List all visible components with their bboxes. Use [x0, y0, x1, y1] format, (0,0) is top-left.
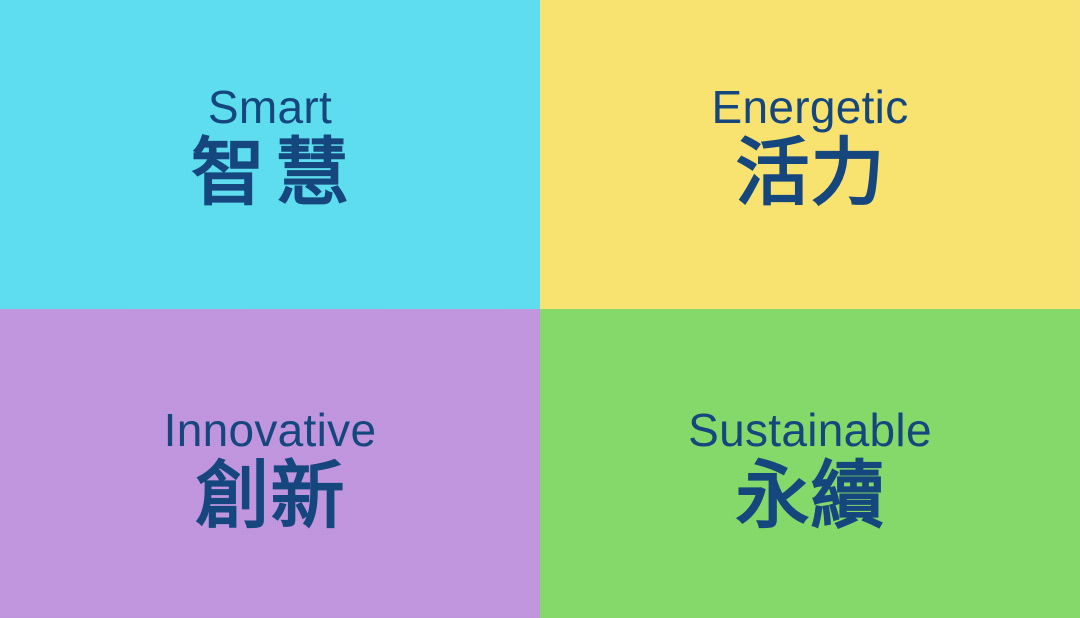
quadrant-smart-text: Smart 智慧 — [0, 84, 540, 217]
quadrant-sustainable[interactable]: Sustainable 永續 — [540, 309, 1080, 618]
quadrant-smart[interactable]: Smart 智慧 — [0, 0, 540, 309]
quadrant-energetic-label-zh: 活力 — [540, 131, 1080, 217]
quadrant-sustainable-label-zh: 永續 — [540, 454, 1080, 540]
quadrant-innovative-label-zh: 創新 — [0, 454, 540, 540]
quadrant-innovative[interactable]: Innovative 創新 — [0, 309, 540, 618]
quadrant-energetic-text: Energetic 活力 — [540, 84, 1080, 217]
brand-values-grid: Smart 智慧 Energetic 活力 Innovative 創新 Sust… — [0, 0, 1080, 618]
quadrant-smart-label-zh: 智慧 — [0, 131, 540, 217]
quadrant-sustainable-label-en: Sustainable — [540, 407, 1080, 454]
quadrant-energetic[interactable]: Energetic 活力 — [540, 0, 1080, 309]
quadrant-energetic-label-en: Energetic — [540, 84, 1080, 131]
quadrant-innovative-label-en: Innovative — [0, 407, 540, 454]
quadrant-smart-label-en: Smart — [0, 84, 540, 131]
quadrant-innovative-text: Innovative 創新 — [0, 407, 540, 540]
quadrant-sustainable-text: Sustainable 永續 — [540, 407, 1080, 540]
